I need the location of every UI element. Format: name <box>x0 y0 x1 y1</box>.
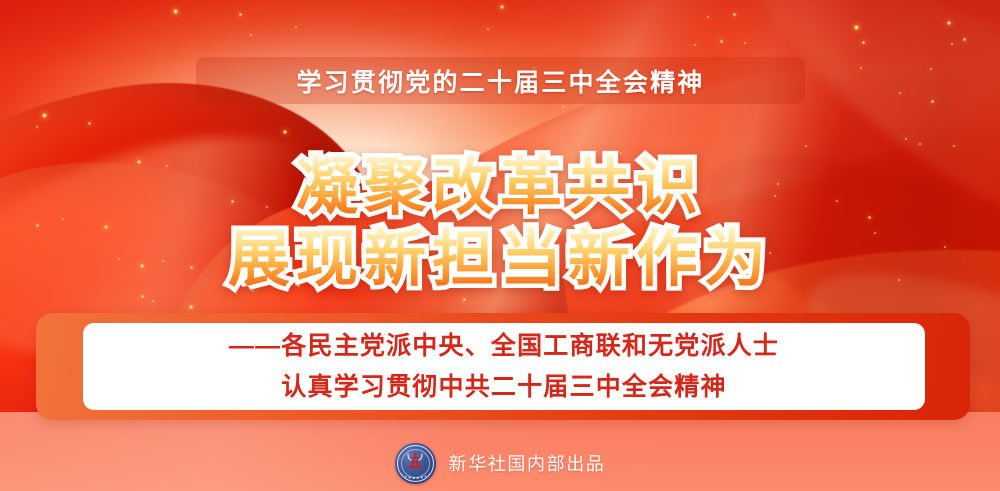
sparkle-dot <box>36 126 38 128</box>
sparkle-dot <box>42 113 47 118</box>
sparkle-dot <box>88 122 91 125</box>
headline-line-1: 凝聚改革共识 凝聚改革共识 <box>0 152 1000 224</box>
logo-emblem-glyph <box>395 451 436 471</box>
sparkle-dot <box>919 143 921 145</box>
footer-text: 新华社国内部出品 <box>449 450 606 476</box>
logo-arc-text <box>395 471 436 480</box>
sparkle-dot <box>930 68 932 70</box>
sparkle-dot <box>931 100 934 103</box>
sparkle-dot <box>720 40 723 43</box>
sparkle-dot <box>500 5 504 9</box>
poster-canvas: 学习贯彻党的二十届三中全会精神 凝聚改革共识 凝聚改革共识 展现新担当新作为 展… <box>0 0 1000 491</box>
sparkle-dot <box>733 13 736 16</box>
sparkle-dot <box>862 41 865 44</box>
subtitle-line-1: ——各民主党派中央、全国工商联和无党派人士 <box>229 326 779 367</box>
sparkle-dot <box>189 305 193 309</box>
sparkle-dot <box>152 300 154 302</box>
sparkle-dot <box>963 38 966 41</box>
sparkle-dot <box>805 145 807 147</box>
sparkle-dot <box>250 34 252 36</box>
subtitle-card: ——各民主党派中央、全国工商联和无党派人士 认真学习贯彻中共二十届三中全会精神 <box>36 313 970 420</box>
sparkle-dot <box>744 42 746 44</box>
sparkle-dot <box>295 26 297 28</box>
sparkle-dot <box>694 44 696 46</box>
subtitle-line-2: 认真学习贯彻中共二十届三中全会精神 <box>281 367 726 408</box>
sparkle-dot <box>953 145 955 147</box>
sparkle-dot <box>463 298 466 301</box>
headline-line-1-fill: 凝聚改革共识 <box>0 152 1000 224</box>
sparkle-dot <box>899 92 901 94</box>
top-banner: 学习贯彻党的二十届三中全会精神 <box>196 57 805 104</box>
sparkle-dot <box>854 25 859 30</box>
sparkle-dot <box>439 120 441 122</box>
sparkle-dot <box>562 106 564 108</box>
sparkle-dot <box>905 138 907 140</box>
sparkle-dot <box>860 67 862 69</box>
sparkle-dot <box>239 13 242 16</box>
subtitle-card-inner: ——各民主党派中央、全国工商联和无党派人士 认真学习贯彻中共二十届三中全会精神 <box>83 323 925 410</box>
headline-line-2: 展现新担当新作为 展现新担当新作为 <box>0 224 1000 296</box>
sparkle-dot <box>173 9 178 14</box>
sparkle-dot <box>951 43 953 45</box>
footer: 新华社国内部出品 <box>0 438 1000 488</box>
sparkle-dot <box>947 21 951 25</box>
headline-line-2-fill: 展现新担当新作为 <box>0 224 1000 296</box>
xinhua-logo-icon <box>395 443 436 484</box>
sparkle-dot <box>487 28 489 30</box>
top-banner-text: 学习贯彻党的二十届三中全会精神 <box>296 63 704 99</box>
headline: 凝聚改革共识 凝聚改革共识 展现新担当新作为 展现新担当新作为 <box>0 152 1000 296</box>
sparkle-dot <box>283 130 287 134</box>
sparkle-dot <box>707 16 709 18</box>
